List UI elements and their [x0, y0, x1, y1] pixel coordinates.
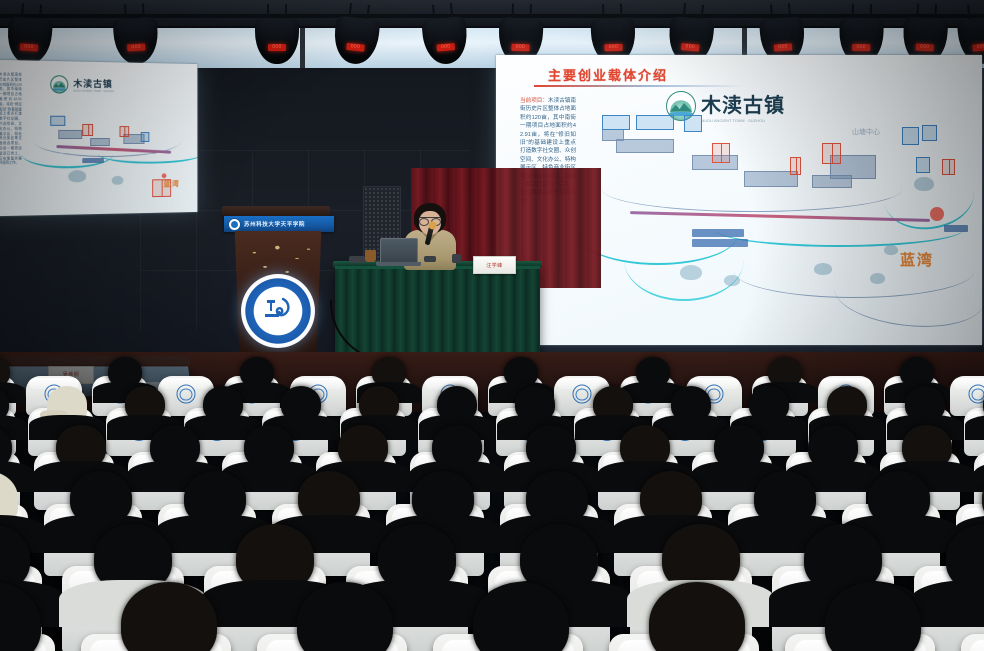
podium-university-seal	[241, 274, 315, 348]
slide-left-map	[24, 95, 196, 207]
slide-main-map: 山塘中心	[584, 115, 976, 337]
presenter-laptop-screen[interactable]	[380, 238, 418, 265]
university-seal-icon	[228, 218, 241, 231]
light-led-readout: 000	[268, 44, 286, 51]
seat-university-emblem-icon	[573, 385, 592, 404]
presenter-laptop-base[interactable]	[376, 262, 421, 266]
slide-title-rule	[534, 85, 744, 87]
seal-glyph-icon	[261, 296, 295, 326]
slide-main-logo-text: 木渎古镇	[701, 89, 785, 118]
slide-title: 主要创业载体介绍	[548, 65, 668, 84]
seal-inner	[254, 287, 302, 335]
presenter-name-placard: 汪学峰	[473, 256, 516, 274]
light-led-readout: 000	[437, 43, 456, 52]
slide-left-logo-sub: MUDU ANCIENT TOWN · SUZHOU	[73, 90, 114, 94]
light-led-readout: 000	[972, 43, 984, 52]
slide-bluewan-label: 蓝湾	[900, 249, 934, 270]
lecture-hall-photo: 000000000000000000000000000000000000 木渎古…	[0, 0, 984, 651]
light-led-readout: 000	[127, 43, 145, 51]
desk-object	[424, 256, 436, 262]
window-mullion	[300, 22, 305, 68]
light-led-readout: 000	[916, 43, 934, 51]
projection-screen-left: 木渎古镇南街历史片区整体占地面积约120亩，其中南街一期项目占地面积约42.91…	[0, 60, 197, 216]
slide-left-bluewan-label: 蓝湾	[164, 179, 181, 189]
light-led-readout: 000	[20, 43, 38, 51]
slide-left-body: 木渎古镇南街历史片区整体占地面积约120亩，其中南街一期项目占地面积约42.91…	[0, 72, 22, 166]
audience-member-shoulders	[911, 580, 984, 628]
slide-left: 木渎古镇南街历史片区整体占地面积约120亩，其中南街一期项目占地面积约42.91…	[0, 60, 197, 216]
audience-seating	[0, 352, 984, 651]
emblem-inner	[972, 388, 984, 400]
podium-banner[interactable]: 苏州科技大学天平学院	[224, 216, 334, 232]
light-led-readout: 000	[346, 43, 365, 52]
seat-university-emblem-icon	[969, 385, 984, 404]
light-led-readout: 000	[852, 44, 870, 51]
emblem-inner	[180, 388, 192, 400]
light-led-readout: 000	[681, 43, 700, 52]
light-led-readout: 000	[774, 43, 792, 51]
light-led-readout: 000	[604, 44, 622, 52]
podium-banner-text: 苏州科技大学天平学院	[244, 220, 305, 228]
emblem-inner	[576, 388, 588, 400]
mudu-logo-icon	[50, 75, 68, 93]
seat-university-emblem-icon	[177, 385, 196, 404]
slide-body-lead: 当前项目：	[520, 98, 548, 104]
slide-left-logo-text: 木渎古镇	[73, 77, 114, 91]
desk-mug	[365, 250, 376, 262]
slide-left-logo: 木渎古镇 MUDU ANCIENT TOWN · SUZHOU	[50, 75, 114, 94]
light-led-readout: 000	[511, 44, 529, 52]
presenter-name-text: 汪学峰	[486, 262, 503, 269]
desk-object	[349, 256, 365, 263]
desk-object	[452, 254, 461, 263]
